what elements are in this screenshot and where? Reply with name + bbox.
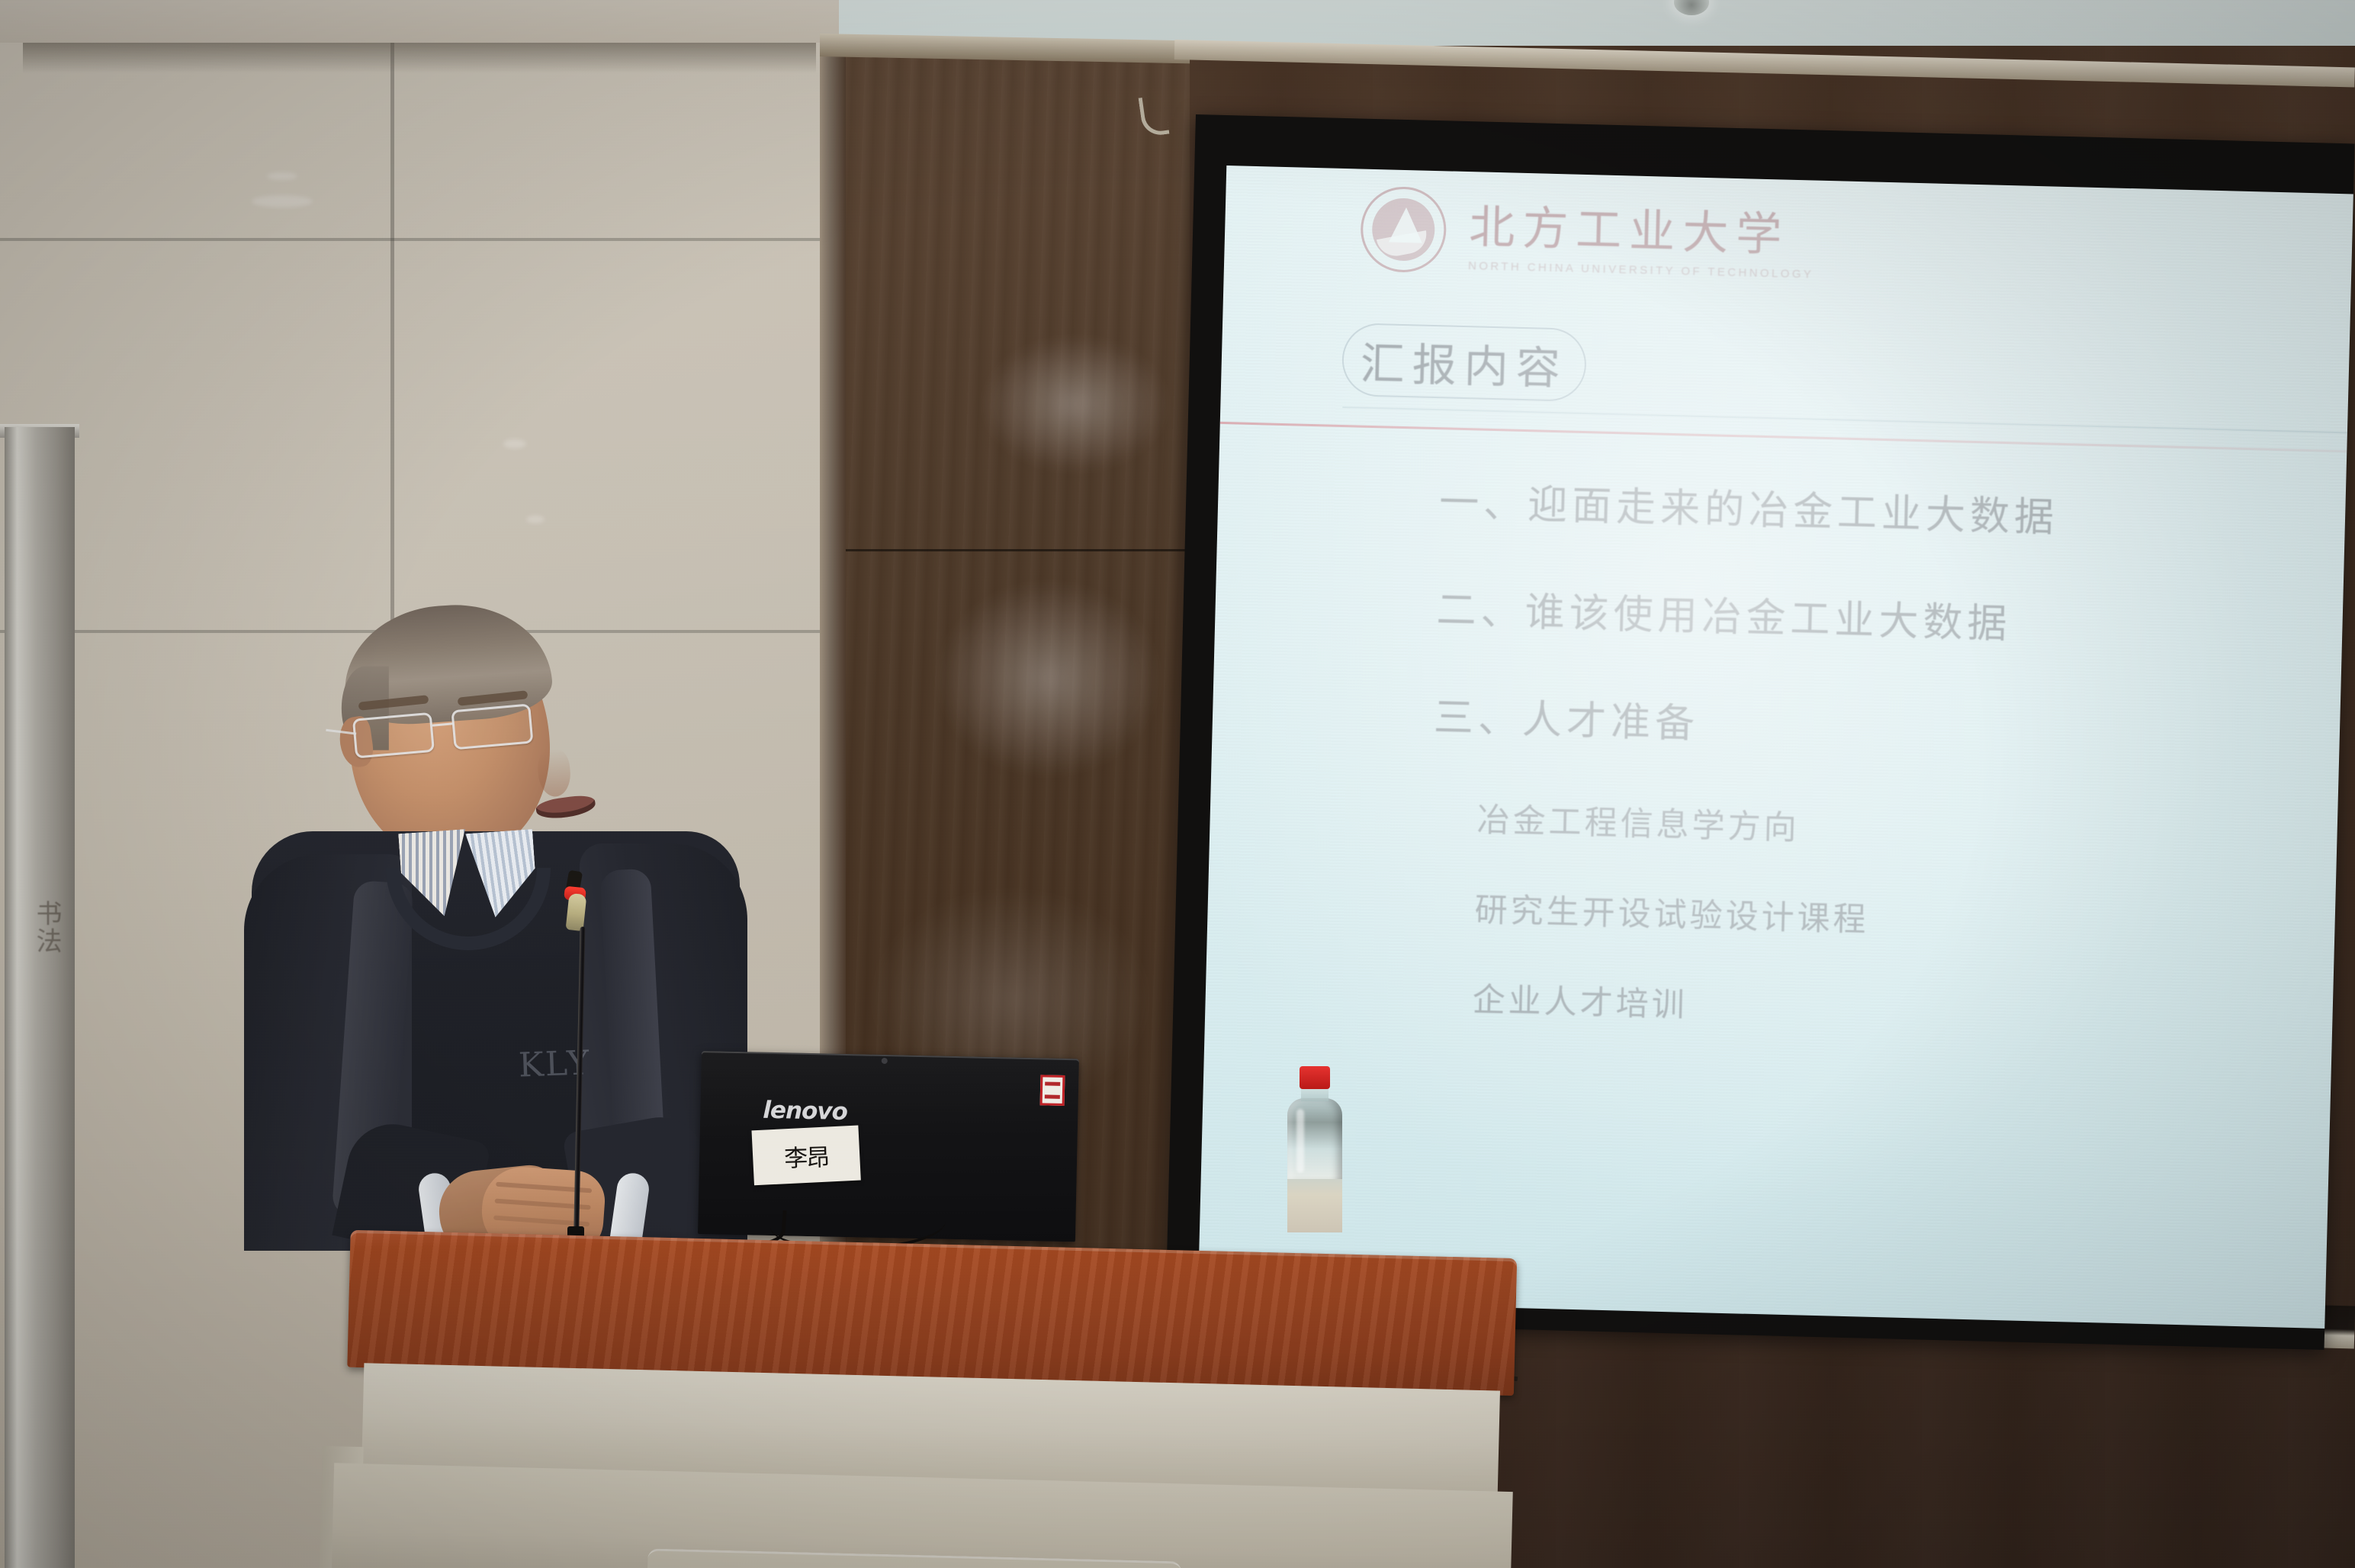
- slide-item: 一、迎面走来的冶金工业大数据: [1438, 470, 2346, 550]
- slide-title-box: 汇报内容: [1341, 323, 1587, 402]
- slide-item: 三、人才准备: [1433, 685, 2341, 765]
- slide-body: 一、迎面走来的冶金工业大数据 二、谁该使用冶金工业大数据 三、人才准备 冶金工程…: [1204, 464, 2346, 1085]
- slide-item: 研究生开设试验设计课程: [1474, 884, 2335, 953]
- projection-screen-surface: 北方工业大学 NORTH CHINA UNIVERSITY OF TECHNOL…: [1198, 165, 2353, 1329]
- slide-item: 冶金工程信息学方向: [1476, 794, 2337, 863]
- slide-title: 汇报内容: [1360, 328, 1569, 397]
- laptop-brand-label: lenovo: [763, 1097, 847, 1126]
- presentation-photo-scene: 书法 北方工业大学 NORTH CHINA UNIVERSIT: [0, 0, 2355, 1568]
- logo-name-cn: 北方工业大学: [1468, 190, 1815, 265]
- bottle-label: [1287, 1179, 1342, 1232]
- podium: [320, 1220, 1533, 1568]
- laptop-name-card: 李昂: [751, 1126, 860, 1186]
- speaker-mouth: [535, 793, 596, 821]
- inventory-sticker-icon: [1040, 1075, 1065, 1106]
- laptop-name-card-text: 李昂: [783, 1138, 828, 1174]
- university-seal-icon: [1360, 186, 1447, 274]
- wall-calligraphy: 书法: [15, 900, 63, 1098]
- wall-top-shadow: [23, 43, 816, 73]
- speaker: KLY: [252, 602, 740, 1235]
- slide-item: 二、谁该使用冶金工业大数据: [1436, 577, 2344, 657]
- water-bottle: [1281, 1066, 1348, 1232]
- slide-logo: 北方工业大学 NORTH CHINA UNIVERSITY OF TECHNOL…: [1360, 186, 1816, 283]
- presentation-slide: 北方工业大学 NORTH CHINA UNIVERSITY OF TECHNOL…: [1198, 165, 2353, 1329]
- slide-title-underline: [1220, 422, 2347, 452]
- slide-item: 企业人才培训: [1472, 974, 2333, 1043]
- bottle-cap: [1300, 1066, 1330, 1089]
